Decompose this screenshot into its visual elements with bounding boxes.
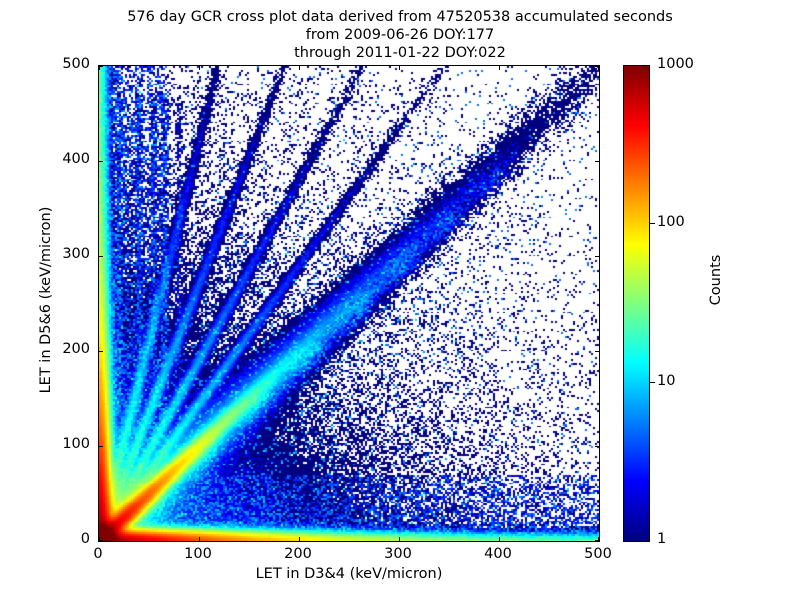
y-axis-label: LET in D5&6 (keV/micron) [38, 150, 54, 450]
x-tick-mark [299, 66, 300, 70]
y-tick-mark [99, 446, 103, 447]
x-tick-label: 400 [468, 546, 528, 562]
x-tick-label: 200 [268, 546, 328, 562]
colorbar-tick-label: 1 [657, 531, 666, 547]
x-axis-label: LET in D3&4 (keV/micron) [98, 566, 600, 582]
figure-canvas: 576 day GCR cross plot data derived from… [0, 0, 800, 600]
y-tick-label: 0 [38, 531, 90, 547]
colorbar[interactable] [623, 65, 650, 542]
y-tick-label: 500 [38, 56, 90, 72]
colorbar-tick-mark [650, 223, 655, 224]
y-tick-mark [99, 161, 103, 162]
title-line-1: 576 day GCR cross plot data derived from… [0, 8, 800, 26]
x-tick-label: 300 [368, 546, 428, 562]
density-heatmap [99, 66, 599, 541]
y-tick-mark [99, 66, 103, 67]
y-tick-mark [99, 256, 103, 257]
x-tick-mark [199, 66, 200, 70]
colorbar-title: Counts [708, 170, 724, 390]
y-tick-mark [595, 256, 599, 257]
plot-area[interactable] [98, 65, 600, 542]
x-tick-mark [499, 66, 500, 70]
y-tick-mark [595, 446, 599, 447]
x-tick-label: 100 [168, 546, 228, 562]
x-tick-label: 500 [568, 546, 628, 562]
y-tick-mark [595, 161, 599, 162]
y-tick-mark [595, 540, 599, 541]
y-tick-mark [99, 351, 103, 352]
x-tick-mark [399, 66, 400, 70]
x-tick-mark [199, 537, 200, 541]
colorbar-tick-label: 10 [657, 373, 675, 389]
y-tick-mark [99, 540, 103, 541]
colorbar-tick-label: 1000 [657, 56, 694, 72]
colorbar-tick-label: 100 [657, 214, 685, 230]
x-tick-mark [299, 537, 300, 541]
title-line-2: from 2009-06-26 DOY:177 [0, 26, 800, 44]
colorbar-tick-mark [650, 382, 655, 383]
x-tick-mark [499, 537, 500, 541]
chart-title: 576 day GCR cross plot data derived from… [0, 8, 800, 62]
y-tick-mark [595, 66, 599, 67]
x-tick-label: 0 [68, 546, 128, 562]
y-tick-mark [595, 351, 599, 352]
colorbar-gradient [624, 66, 649, 541]
x-tick-mark [399, 537, 400, 541]
